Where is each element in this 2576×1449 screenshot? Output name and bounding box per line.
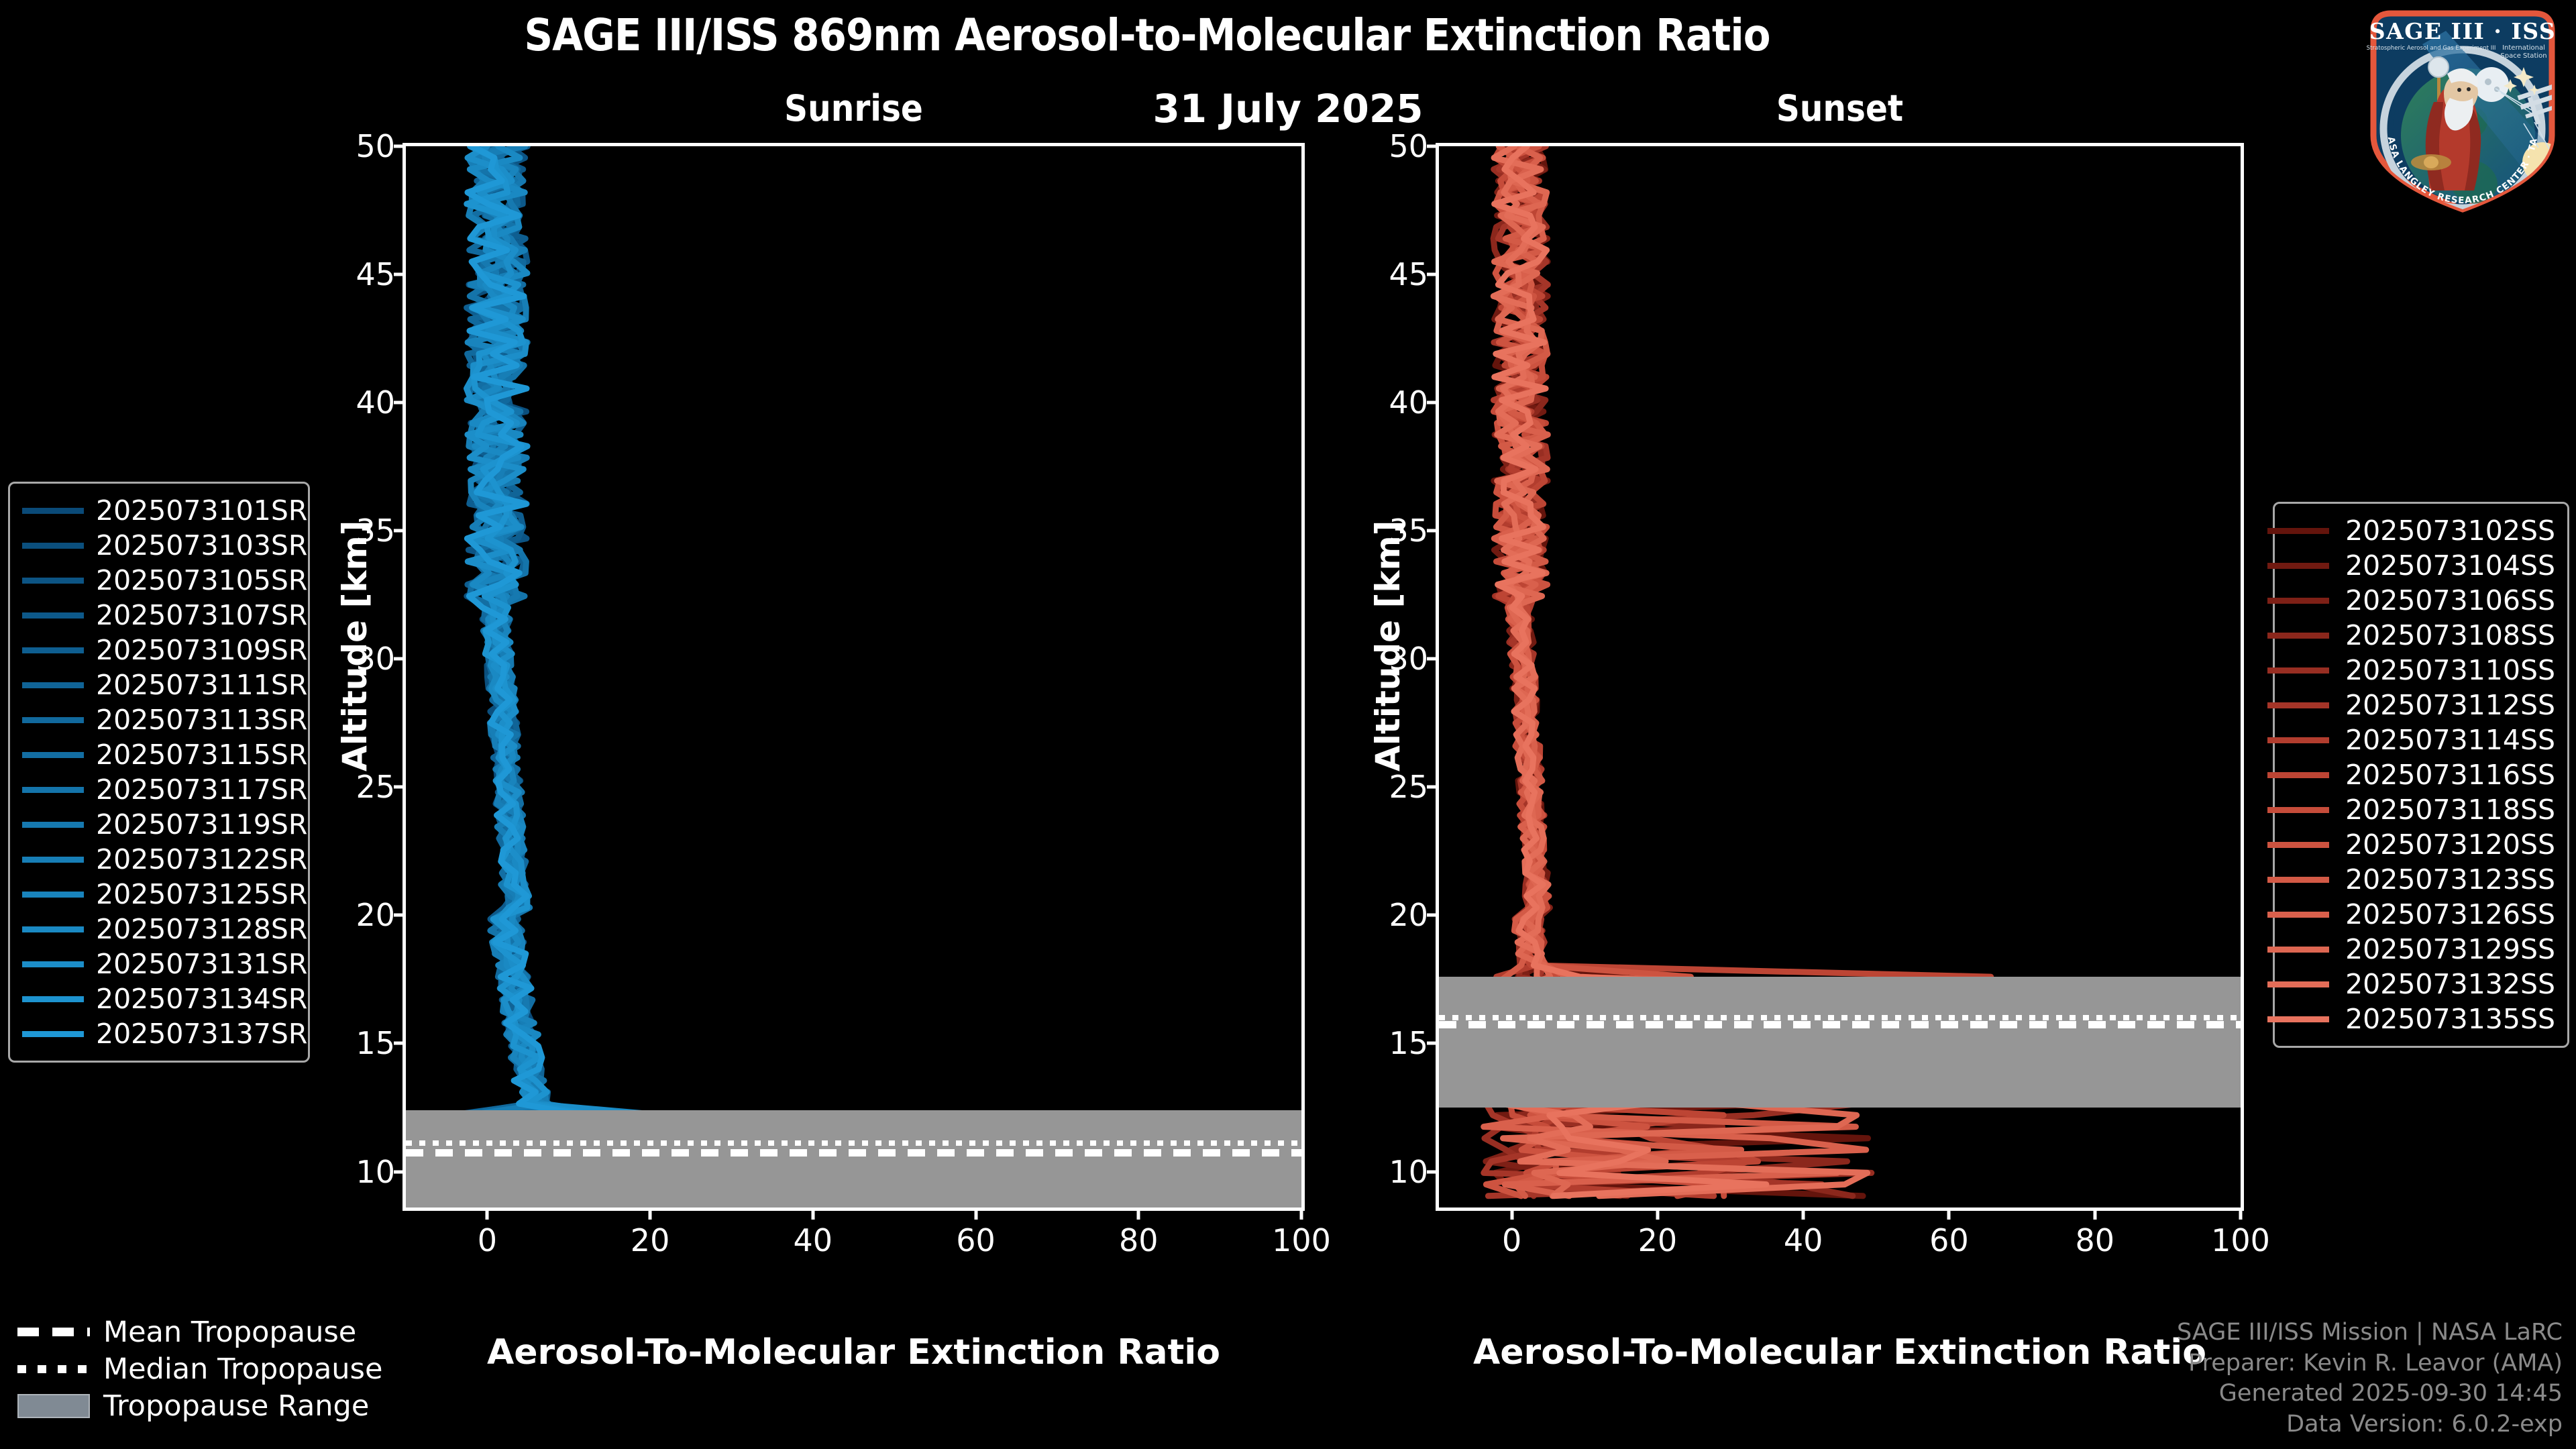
legend-item[interactable]: 2025073117SR	[22, 772, 296, 807]
x-tick-label: 40	[794, 1222, 833, 1258]
x-tick-label: 40	[1784, 1222, 1823, 1258]
y-tick-mark	[394, 914, 406, 917]
x-tick-mark	[1300, 1207, 1303, 1220]
legend-item-label: 2025073107SR	[96, 599, 307, 631]
legend-item[interactable]: 2025073120SS	[2287, 827, 2555, 862]
sunset-x-axis-label: Aerosol-To-Molecular Extinction Ratio	[1436, 1332, 2244, 1373]
legend-item-label: 2025073120SS	[2345, 828, 2555, 861]
legend-item-label: 2025073122SR	[96, 843, 307, 875]
legend-item[interactable]: 2025073132SS	[2287, 967, 2555, 1002]
patch-subtitle-left: Stratospheric Aerosol and Gas Experiment…	[2367, 45, 2496, 52]
mean-tropopause-label: Mean Tropopause	[103, 1316, 356, 1349]
y-tick-mark	[1427, 1170, 1439, 1173]
legend-item-label: 2025073112SS	[2345, 689, 2555, 721]
legend-item-label: 2025073106SS	[2345, 584, 2555, 616]
y-tick-mark	[394, 145, 406, 148]
x-tick-label: 0	[478, 1222, 497, 1258]
legend-item[interactable]: 2025073111SR	[22, 667, 296, 702]
legend-item-label: 2025073108SS	[2345, 619, 2555, 651]
tropopause-key-mean: Mean Tropopause	[17, 1313, 447, 1350]
tropopause-legend: Mean Tropopause Median Tropopause Tropop…	[17, 1313, 447, 1424]
legend-item-label: 2025073111SR	[96, 669, 307, 701]
legend-item[interactable]: 2025073104SS	[2287, 548, 2555, 583]
patch-subtitle-right-1: International	[2502, 44, 2545, 52]
legend-color-swatch	[22, 822, 84, 828]
legend-item-label: 2025073118SS	[2345, 794, 2555, 826]
legend-item[interactable]: 2025073101SR	[22, 493, 296, 528]
y-tick-label: 50	[1389, 128, 1428, 164]
legend-item[interactable]: 2025073125SR	[22, 877, 296, 912]
legend-item-label: 2025073117SR	[96, 773, 307, 806]
legend-item-label: 2025073113SR	[96, 704, 307, 736]
legend-item[interactable]: 2025073105SR	[22, 563, 296, 598]
sage-iii-iss-mission-patch-icon: SAGE III · ISS Stratospheric Aerosol and…	[2359, 4, 2567, 219]
legend-item[interactable]: 2025073118SS	[2287, 792, 2555, 827]
legend-color-swatch	[2267, 528, 2329, 534]
legend-item[interactable]: 2025073114SS	[2287, 722, 2555, 757]
legend-item[interactable]: 2025073128SR	[22, 912, 296, 947]
patch-subtitle-right-2: Space Station	[2500, 52, 2546, 60]
y-tick-mark	[394, 529, 406, 533]
legend-item-label: 2025073134SR	[96, 983, 307, 1015]
y-tick-mark	[1427, 529, 1439, 533]
y-tick-mark	[1427, 273, 1439, 276]
legend-item-label: 2025073137SR	[96, 1018, 307, 1050]
y-tick-mark	[1427, 786, 1439, 789]
legend-color-swatch	[22, 612, 84, 619]
legend-color-swatch	[22, 1031, 84, 1037]
y-tick-mark	[394, 786, 406, 789]
y-tick-mark	[1427, 401, 1439, 405]
legend-item-label: 2025073123SS	[2345, 863, 2555, 896]
legend-color-swatch	[22, 892, 84, 898]
y-tick-label: 25	[356, 769, 395, 805]
legend-item[interactable]: 2025073134SR	[22, 981, 296, 1016]
x-tick-mark	[649, 1207, 652, 1220]
legend-color-swatch	[22, 787, 84, 793]
y-tick-mark	[394, 1170, 406, 1173]
sunset-median-tropopause	[1439, 1015, 2241, 1020]
legend-item-label: 2025073102SS	[2345, 515, 2555, 547]
y-tick-label: 25	[1389, 769, 1428, 805]
y-tick-label: 15	[356, 1025, 395, 1061]
legend-item-label: 2025073129SS	[2345, 933, 2555, 965]
x-tick-mark	[1510, 1207, 1513, 1220]
legend-item-label: 2025073101SR	[96, 494, 307, 527]
dashed-line-icon	[17, 1324, 90, 1340]
sunset-mean-tropopause	[1439, 1021, 2241, 1028]
legend-item-label: 2025073132SS	[2345, 968, 2555, 1000]
y-tick-label: 10	[356, 1154, 395, 1190]
sunset-y-axis-label: Altitude [km]	[1368, 520, 1407, 771]
legend-item-label: 2025073119SR	[96, 808, 307, 841]
sunrise-mean-tropopause	[406, 1149, 1301, 1157]
legend-item-label: 2025073109SR	[96, 634, 307, 666]
legend-color-swatch	[2267, 912, 2329, 918]
legend-color-swatch	[22, 996, 84, 1002]
page-title: SAGE III/ISS 869nm Aerosol-to-Molecular …	[0, 9, 2294, 61]
legend-color-swatch	[22, 578, 84, 584]
legend-item[interactable]: 2025073113SR	[22, 702, 296, 737]
legend-item[interactable]: 2025073107SR	[22, 598, 296, 633]
y-tick-label: 15	[1389, 1025, 1428, 1061]
sunrise-panel-title: Sunrise	[402, 87, 1305, 129]
legend-item[interactable]: 2025073122SR	[22, 842, 296, 877]
legend-item-label: 2025073114SS	[2345, 724, 2555, 756]
sunrise-plot: 101520253035404550020406080100	[402, 143, 1305, 1211]
legend-item-label: 2025073128SR	[96, 913, 307, 945]
legend-color-swatch	[2267, 633, 2329, 639]
x-tick-mark	[974, 1207, 977, 1220]
legend-color-swatch	[2267, 563, 2329, 569]
legend-color-swatch	[22, 647, 84, 653]
footer-line-preparer: Preparer: Kevin R. Leavor (AMA)	[2177, 1348, 2563, 1379]
sunset-legend: 2025073102SS2025073104SS2025073106SS2025…	[2273, 502, 2569, 1048]
sunrise-median-tropopause	[406, 1140, 1301, 1146]
legend-item-label: 2025073131SR	[96, 948, 307, 980]
legend-item[interactable]: 2025073137SR	[22, 1016, 296, 1051]
sunset-tropopause-range	[1439, 977, 2241, 1108]
y-tick-label: 20	[356, 897, 395, 933]
patch-title: SAGE III · ISS	[2369, 18, 2556, 44]
legend-color-swatch	[2267, 772, 2329, 778]
legend-item[interactable]: 2025073112SS	[2287, 688, 2555, 722]
gray-band-icon	[17, 1398, 90, 1414]
x-tick-mark	[2239, 1207, 2243, 1220]
y-tick-mark	[394, 401, 406, 405]
x-tick-label: 20	[1638, 1222, 1678, 1258]
dotted-line-icon	[17, 1361, 90, 1377]
y-tick-label: 50	[356, 128, 395, 164]
y-tick-label: 10	[1389, 1154, 1428, 1190]
legend-item[interactable]: 2025073102SS	[2287, 513, 2555, 548]
legend-color-swatch	[22, 926, 84, 932]
legend-item[interactable]: 2025073110SS	[2287, 653, 2555, 688]
footer-credits: SAGE III/ISS Mission | NASA LaRC Prepare…	[2177, 1318, 2563, 1440]
y-tick-mark	[394, 1042, 406, 1045]
legend-item-label: 2025073135SS	[2345, 1003, 2555, 1035]
x-tick-mark	[1947, 1207, 1951, 1220]
x-tick-mark	[1137, 1207, 1140, 1220]
legend-color-swatch	[22, 682, 84, 688]
legend-item-label: 2025073105SR	[96, 564, 307, 596]
sunset-panel-title: Sunset	[1436, 87, 2244, 129]
y-tick-label: 45	[356, 256, 395, 292]
legend-item[interactable]: 2025073119SR	[22, 807, 296, 842]
y-tick-label: 40	[356, 384, 395, 421]
legend-color-swatch	[2267, 947, 2329, 953]
x-tick-label: 100	[1272, 1222, 1331, 1258]
x-tick-label: 60	[956, 1222, 996, 1258]
y-tick-mark	[1427, 1042, 1439, 1045]
legend-color-swatch	[2267, 667, 2329, 674]
x-tick-label: 60	[1929, 1222, 1969, 1258]
footer-line-version: Data Version: 6.0.2-exp	[2177, 1409, 2563, 1440]
legend-item-label: 2025073115SR	[96, 739, 307, 771]
legend-color-swatch	[22, 508, 84, 514]
legend-item[interactable]: 2025073115SR	[22, 737, 296, 772]
tropopause-key-range: Tropopause Range	[17, 1387, 447, 1424]
y-tick-mark	[394, 657, 406, 661]
legend-color-swatch	[2267, 702, 2329, 708]
legend-item[interactable]: 2025073103SR	[22, 528, 296, 563]
legend-item-label: 2025073104SS	[2345, 549, 2555, 582]
legend-color-swatch	[2267, 877, 2329, 883]
legend-item[interactable]: 2025073116SS	[2287, 757, 2555, 792]
legend-item-label: 2025073126SS	[2345, 898, 2555, 930]
x-tick-mark	[1802, 1207, 1805, 1220]
legend-color-swatch	[2267, 842, 2329, 848]
sunrise-y-axis-label: Altitude [km]	[335, 520, 374, 771]
legend-item[interactable]: 2025073109SR	[22, 633, 296, 667]
y-tick-label: 20	[1389, 897, 1428, 933]
y-tick-label: 40	[1389, 384, 1428, 421]
y-tick-mark	[1427, 145, 1439, 148]
x-tick-mark	[811, 1207, 814, 1220]
legend-color-swatch	[22, 543, 84, 549]
x-tick-mark	[486, 1207, 489, 1220]
sunset-plot: 101520253035404550020406080100	[1436, 143, 2244, 1211]
legend-color-swatch	[22, 961, 84, 967]
legend-item[interactable]: 2025073106SS	[2287, 583, 2555, 618]
legend-item[interactable]: 2025073135SS	[2287, 1002, 2555, 1036]
profile-line	[467, 146, 710, 1196]
legend-color-swatch	[2267, 737, 2329, 743]
legend-item[interactable]: 2025073108SS	[2287, 618, 2555, 653]
legend-color-swatch	[22, 857, 84, 863]
legend-color-swatch	[2267, 598, 2329, 604]
legend-item[interactable]: 2025073126SS	[2287, 897, 2555, 932]
legend-item[interactable]: 2025073131SR	[22, 947, 296, 981]
x-tick-label: 80	[2075, 1222, 2114, 1258]
x-tick-mark	[1656, 1207, 1659, 1220]
x-tick-mark	[2093, 1207, 2096, 1220]
legend-item[interactable]: 2025073123SS	[2287, 862, 2555, 897]
legend-color-swatch	[2267, 1016, 2329, 1022]
x-tick-label: 0	[1502, 1222, 1521, 1258]
x-tick-label: 100	[2211, 1222, 2270, 1258]
legend-item-label: 2025073116SS	[2345, 759, 2555, 791]
y-tick-mark	[394, 273, 406, 276]
median-tropopause-label: Median Tropopause	[103, 1352, 382, 1386]
sunrise-x-axis-label: Aerosol-To-Molecular Extinction Ratio	[402, 1332, 1305, 1373]
legend-item-label: 2025073103SR	[96, 529, 307, 561]
y-tick-label: 45	[1389, 256, 1428, 292]
sunrise-profile-lines	[406, 146, 1301, 1207]
y-tick-mark	[1427, 914, 1439, 917]
legend-color-swatch	[22, 717, 84, 723]
footer-line-generated: Generated 2025-09-30 14:45	[2177, 1379, 2563, 1409]
sunrise-legend: 2025073101SR2025073103SR2025073105SR2025…	[8, 482, 310, 1063]
tropopause-key-median: Median Tropopause	[17, 1350, 447, 1387]
x-tick-label: 80	[1119, 1222, 1159, 1258]
legend-color-swatch	[2267, 981, 2329, 987]
legend-item[interactable]: 2025073129SS	[2287, 932, 2555, 967]
legend-color-swatch	[22, 752, 84, 758]
legend-item-label: 2025073110SS	[2345, 654, 2555, 686]
x-tick-label: 20	[631, 1222, 670, 1258]
legend-item-label: 2025073125SR	[96, 878, 307, 910]
footer-line-mission: SAGE III/ISS Mission | NASA LaRC	[2177, 1318, 2563, 1348]
legend-color-swatch	[2267, 807, 2329, 813]
y-tick-mark	[1427, 657, 1439, 661]
tropopause-range-label: Tropopause Range	[103, 1389, 369, 1423]
sunrise-tropopause-range	[406, 1110, 1301, 1207]
